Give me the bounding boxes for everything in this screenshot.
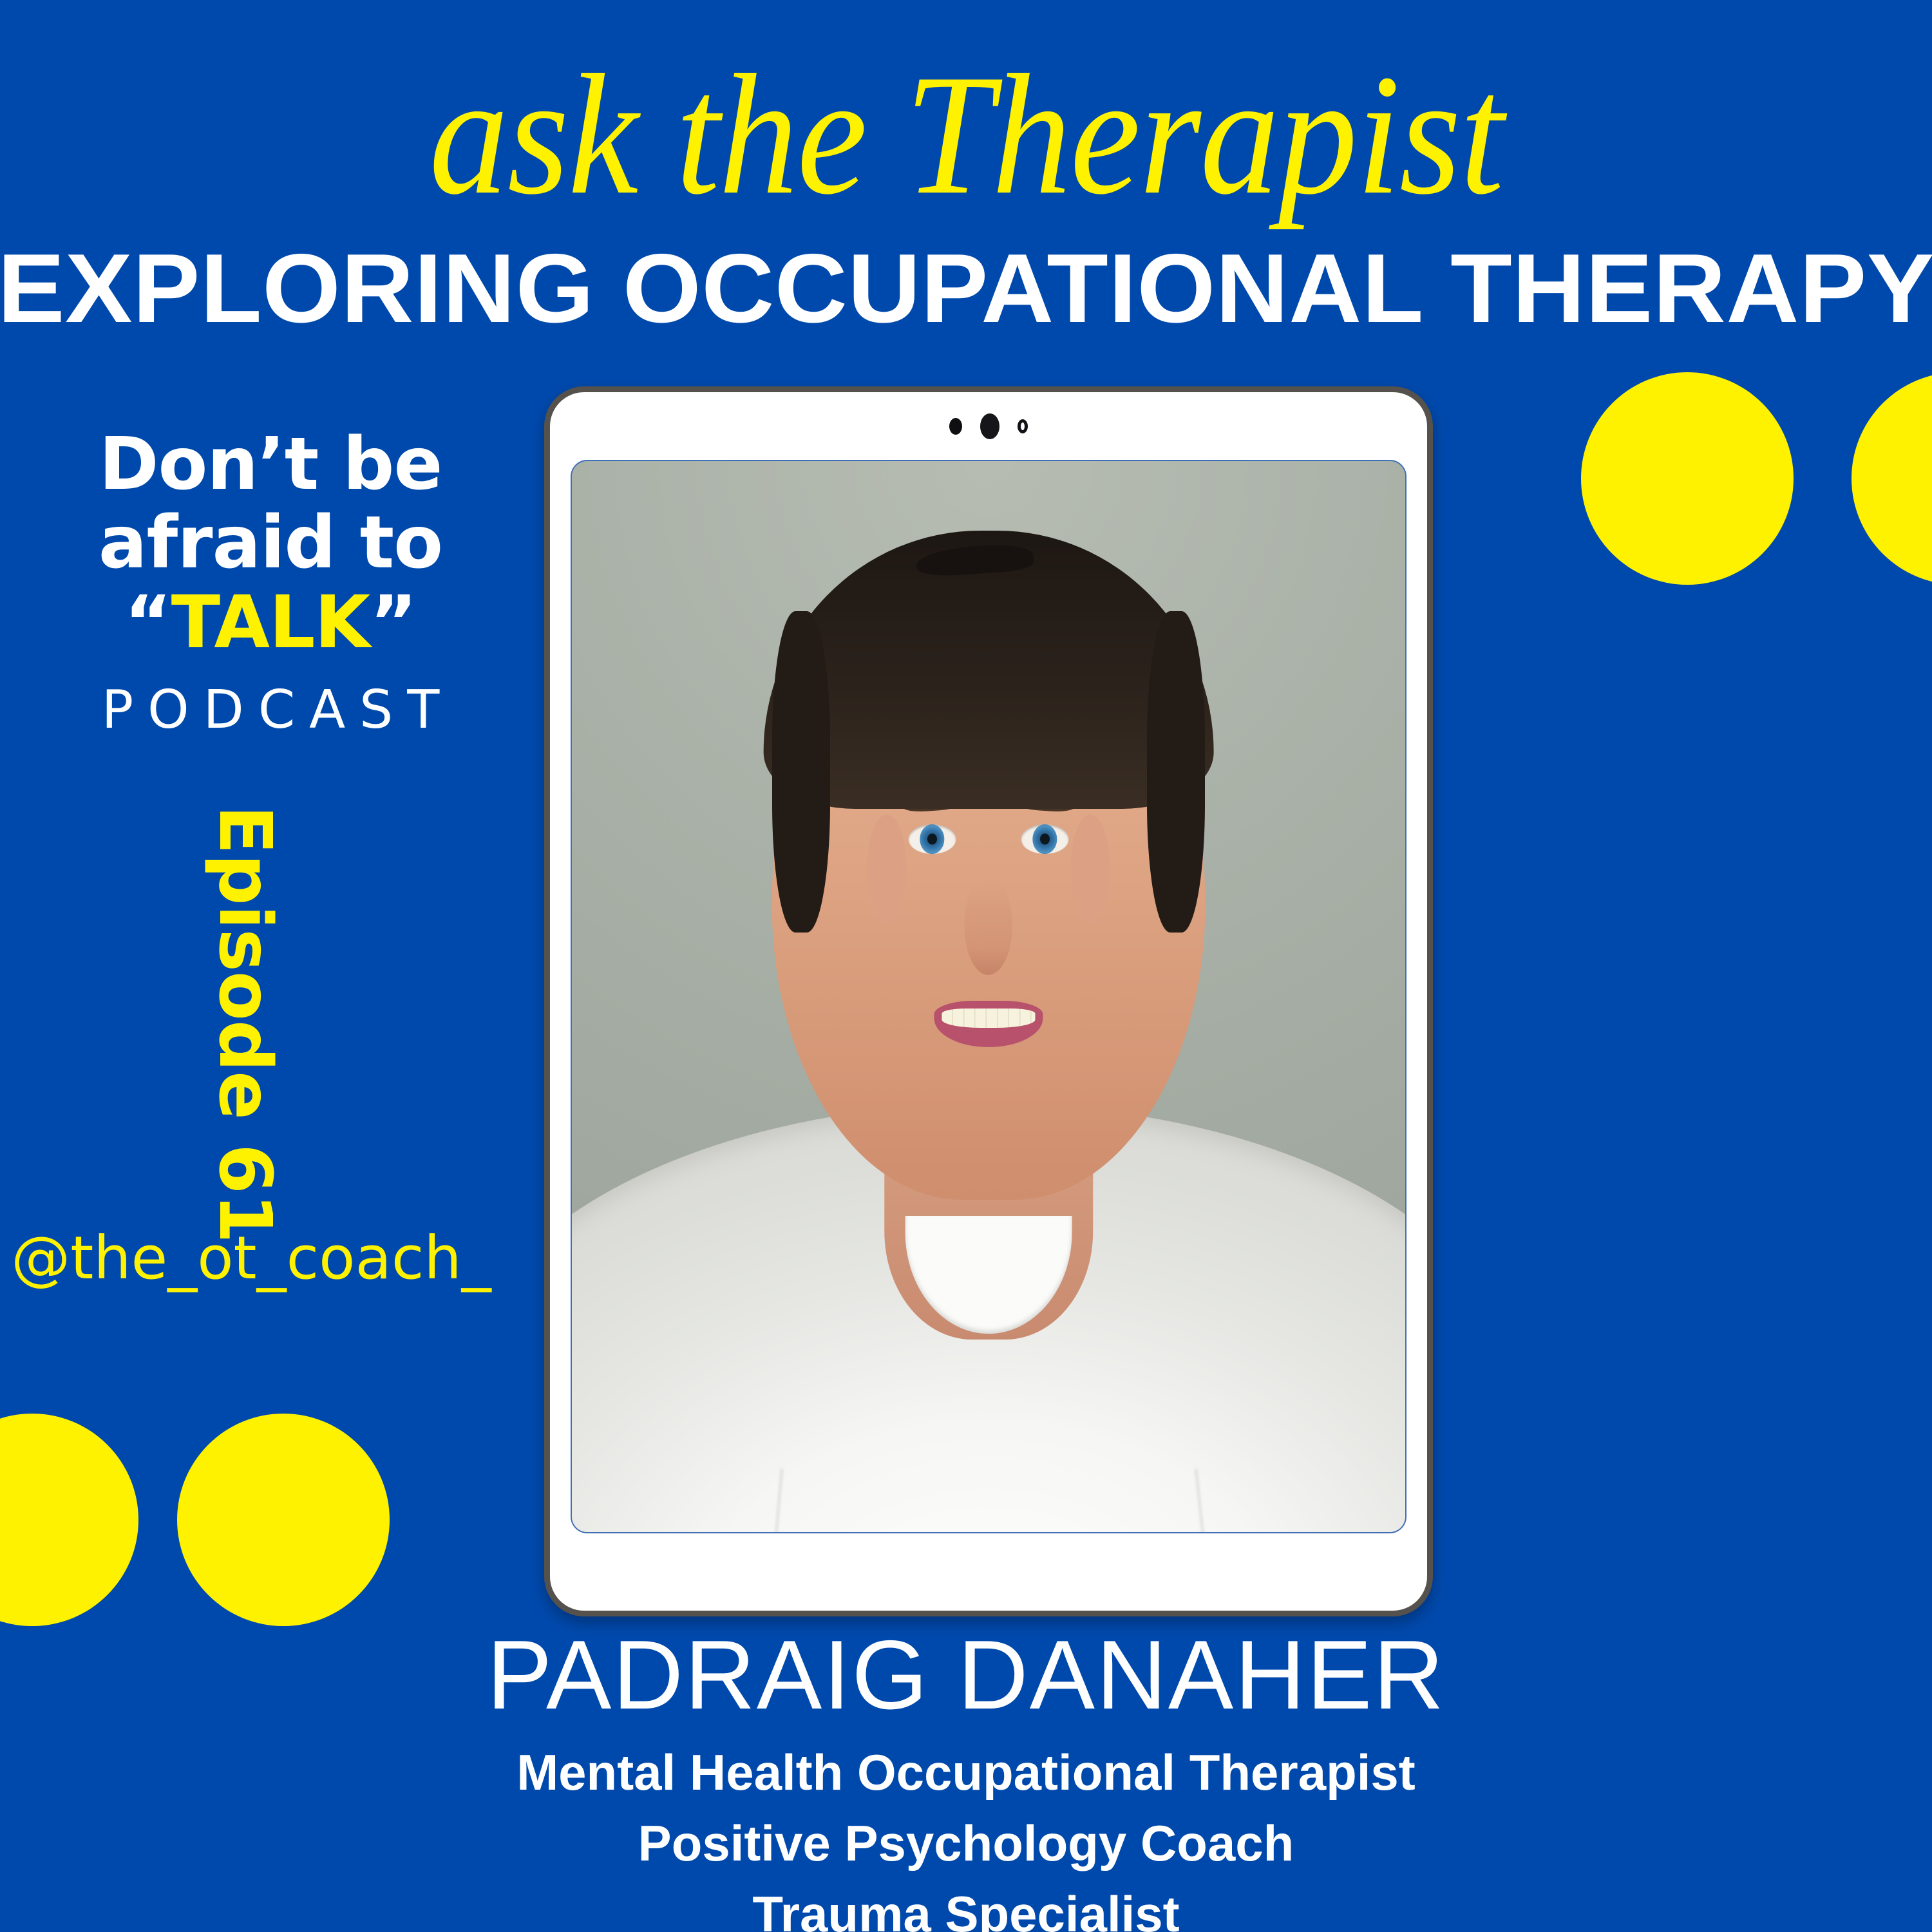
- social-handle: @the_ot_coach_: [0, 1224, 502, 1293]
- portrait-iris-left: [920, 824, 944, 854]
- tagline-line-2: afraid to: [39, 504, 502, 582]
- guest-role-3: Trauma Specialist: [0, 1889, 1932, 1932]
- quote-open: “: [124, 581, 171, 665]
- guest-portrait-photo: [572, 461, 1405, 1532]
- portrait-ear-right: [1071, 815, 1110, 924]
- decorative-dot-bottom-left-2: [177, 1414, 390, 1626]
- portrait-teeth: [942, 1009, 1036, 1028]
- camera-dot-large-icon: [980, 413, 999, 439]
- tablet-camera-cluster: [550, 412, 1427, 441]
- tagline-block: Don’t be afraid to “TALK” PODCAST: [39, 425, 502, 737]
- credits-block: PADRAIG DANAHER Mental Health Occupation…: [0, 1626, 1932, 1932]
- portrait-eye-right: [1021, 824, 1068, 854]
- portrait-shirt-fold-left: [770, 1468, 782, 1532]
- guest-role-1: Mental Health Occupational Therapist: [0, 1747, 1932, 1797]
- decorative-dot-top-right-2: [1851, 372, 1932, 585]
- tablet-device: [544, 386, 1433, 1616]
- portrait-hair: [764, 531, 1214, 809]
- portrait-eye-left: [909, 824, 956, 854]
- podcast-label: PODCAST: [39, 684, 502, 737]
- portrait-nose: [965, 879, 1012, 976]
- guest-name: PADRAIG DANAHER: [0, 1626, 1932, 1724]
- portrait-ear-left: [867, 815, 907, 924]
- guest-role-2: Positive Psychology Coach: [0, 1818, 1932, 1868]
- episode-label: Episode 61: [209, 805, 281, 1243]
- portrait-hair-side-left: [772, 611, 831, 933]
- tagline-highlight-word: TALK: [171, 581, 370, 665]
- camera-dot-ring-icon: [1018, 419, 1028, 433]
- portrait-iris-right: [1032, 824, 1057, 854]
- tablet-screen: [571, 460, 1406, 1533]
- portrait-shirt-fold-right: [1195, 1468, 1211, 1532]
- quote-close: ”: [370, 581, 417, 665]
- portrait-hair-quiff: [916, 542, 1034, 578]
- tagline-line-1: Don’t be: [39, 425, 502, 504]
- podcast-cover-art: ask the Therapist EXPLORING OCCUPATIONAL…: [0, 0, 1932, 1932]
- decorative-dot-bottom-left-1: [0, 1414, 138, 1626]
- episode-label-wrapper: Episode 61: [0, 818, 489, 1230]
- portrait-mouth: [934, 1001, 1043, 1047]
- portrait-pupil-left: [927, 833, 937, 844]
- show-subtitle: EXPLORING OCCUPATIONAL THERAPY: [0, 240, 1932, 337]
- portrait-hair-side-right: [1147, 611, 1206, 933]
- tagline-line-3: “TALK”: [39, 583, 502, 662]
- camera-dot-small-icon: [949, 418, 962, 435]
- portrait-pupil-right: [1040, 833, 1050, 844]
- show-title: ask the Therapist: [77, 48, 1855, 221]
- decorative-dot-top-right-1: [1581, 372, 1794, 585]
